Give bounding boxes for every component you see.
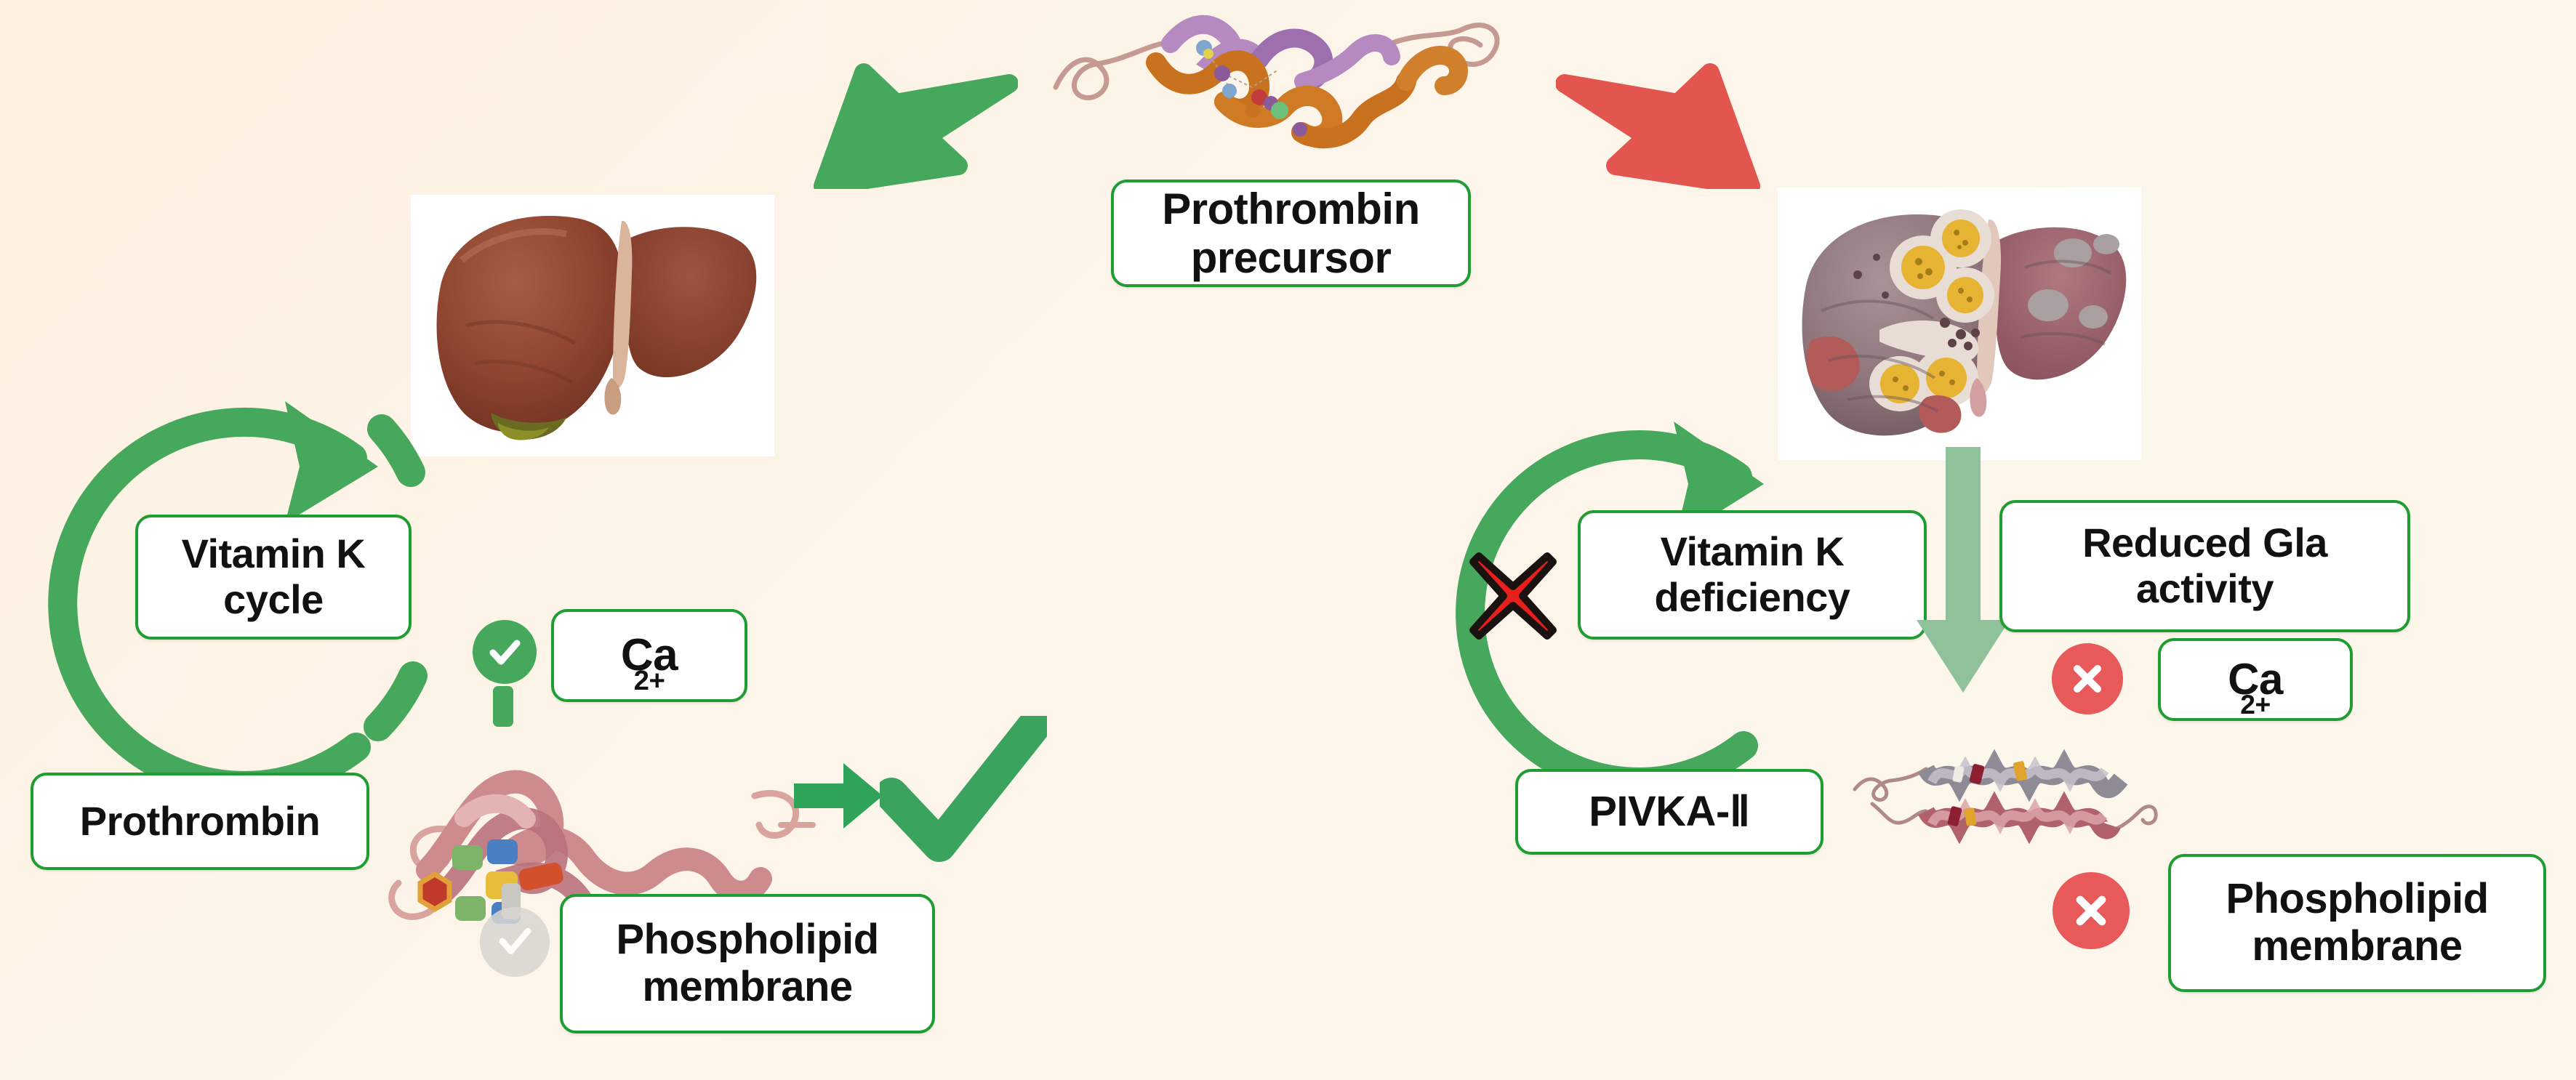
check-icon (493, 920, 537, 964)
membrane-line2-right: membrane (2242, 923, 2472, 970)
membrane-cross-badge-right[interactable] (2053, 872, 2130, 949)
healthy-liver-illustration (411, 195, 774, 456)
phospholipid-membrane-label-left: Phospholipid membrane (560, 894, 935, 1033)
vitamin-k-cycle-line1: Vitamin K (172, 531, 376, 577)
vitamin-k-cycle-line2: cycle (213, 577, 334, 623)
cross-icon (2067, 658, 2108, 699)
prothrombin-precursor-text: Prothrombin precursor (1124, 185, 1458, 282)
red-x-icon-deficiency (1458, 541, 1568, 650)
membrane-line1-right: Phospholipid (2215, 876, 2498, 923)
vitamin-k-deficiency-line2: deficiency (1645, 575, 1861, 621)
prothrombin-label: Prothrombin (31, 773, 369, 870)
reduced-gla-line2: activity (2126, 566, 2284, 612)
vitamin-k-deficiency-label: Vitamin K deficiency (1578, 510, 1927, 640)
pale-green-down-arrow (1912, 447, 2014, 698)
figure-canvas: Prothrombin precursor (0, 0, 2576, 1080)
membrane-line1-left: Phospholipid (606, 916, 888, 964)
red-arrow-to-diseased-liver (1556, 44, 1796, 189)
pivka-ii-text: PIVKA-Ⅱ (1578, 789, 1760, 836)
reduced-gla-activity-label: Reduced Gla activity (1999, 500, 2410, 632)
cross-icon (2069, 889, 2113, 932)
cirrhotic-tumor-liver-illustration (1778, 188, 2141, 460)
vitamin-k-cycle-label: Vitamin K cycle (135, 515, 412, 640)
calcium-label-left: Ca2+ (551, 609, 747, 702)
prothrombin-text: Prothrombin (70, 799, 330, 845)
calcium-check-badge-left (473, 620, 537, 684)
pivka-ii-label: PIVKA-Ⅱ (1515, 769, 1823, 855)
right-arrow-to-outcome-left (791, 756, 886, 836)
membrane-line2-left: membrane (632, 964, 862, 1011)
green-check-mark-outcome (880, 716, 1047, 869)
vitamin-k-deficiency-line1: Vitamin K (1650, 529, 1855, 575)
phospholipid-membrane-label-right: Phospholipid membrane (2168, 854, 2546, 992)
calcium-cross-badge-right[interactable] (2052, 643, 2123, 714)
green-arrow-to-healthy-liver (778, 44, 1018, 189)
reduced-gla-line1: Reduced Gla (2072, 520, 2338, 566)
check-icon (484, 632, 525, 672)
prothrombin-precursor-ribbon-structure (1047, 0, 1512, 156)
calcium-label-right: Ca2+ (2158, 638, 2353, 721)
prothrombin-precursor-label: Prothrombin precursor (1111, 180, 1471, 287)
membrane-check-badge-left (480, 907, 550, 977)
undercarboxylated-pivka-ii-helix-ribbon (1850, 749, 2163, 872)
